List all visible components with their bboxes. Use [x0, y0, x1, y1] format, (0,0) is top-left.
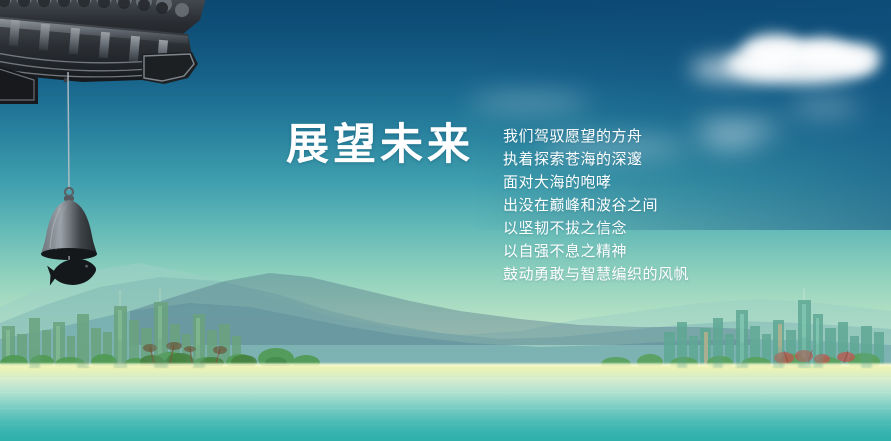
water-streak-1 [0, 378, 891, 379]
poem-line: 以坚韧不拔之信念 [503, 217, 713, 240]
future-outlook-banner: 展望未来 我们驾驭愿望的方舟 执着探索苍海的深邃 面对大海的咆哮 出没在巅峰和波… [0, 0, 891, 441]
poem-line: 执着探索苍海的深邃 [503, 148, 713, 171]
page-title: 展望未来 [286, 124, 474, 167]
water-streak-4 [0, 424, 891, 425]
poem-block: 我们驾驭愿望的方舟 执着探索苍海的深邃 面对大海的咆哮 出没在巅峰和波谷之间 以… [503, 125, 713, 286]
cloud-left-wisp [690, 58, 780, 80]
poem-line: 鼓动勇敢与智慧编织的风帆 [503, 263, 713, 286]
cloud-bump-c [834, 44, 880, 70]
poem-line: 我们驾驭愿望的方舟 [503, 125, 713, 148]
chime-string [68, 72, 69, 190]
reflection-right-city [660, 327, 891, 368]
cloud-small-low-right [790, 100, 860, 114]
cloud-midsky-left [470, 96, 590, 108]
water-streak-3 [0, 408, 891, 409]
fish-clapper [47, 256, 98, 288]
poem-line: 出没在巅峰和波谷之间 [503, 194, 713, 217]
water-streak-2 [0, 392, 891, 393]
reflection-left-city [0, 327, 250, 368]
bell-body [41, 200, 97, 254]
wind-chime [38, 72, 108, 297]
poem-line: 面对大海的咆哮 [503, 171, 713, 194]
poem-line: 以自强不息之精神 [503, 240, 713, 263]
